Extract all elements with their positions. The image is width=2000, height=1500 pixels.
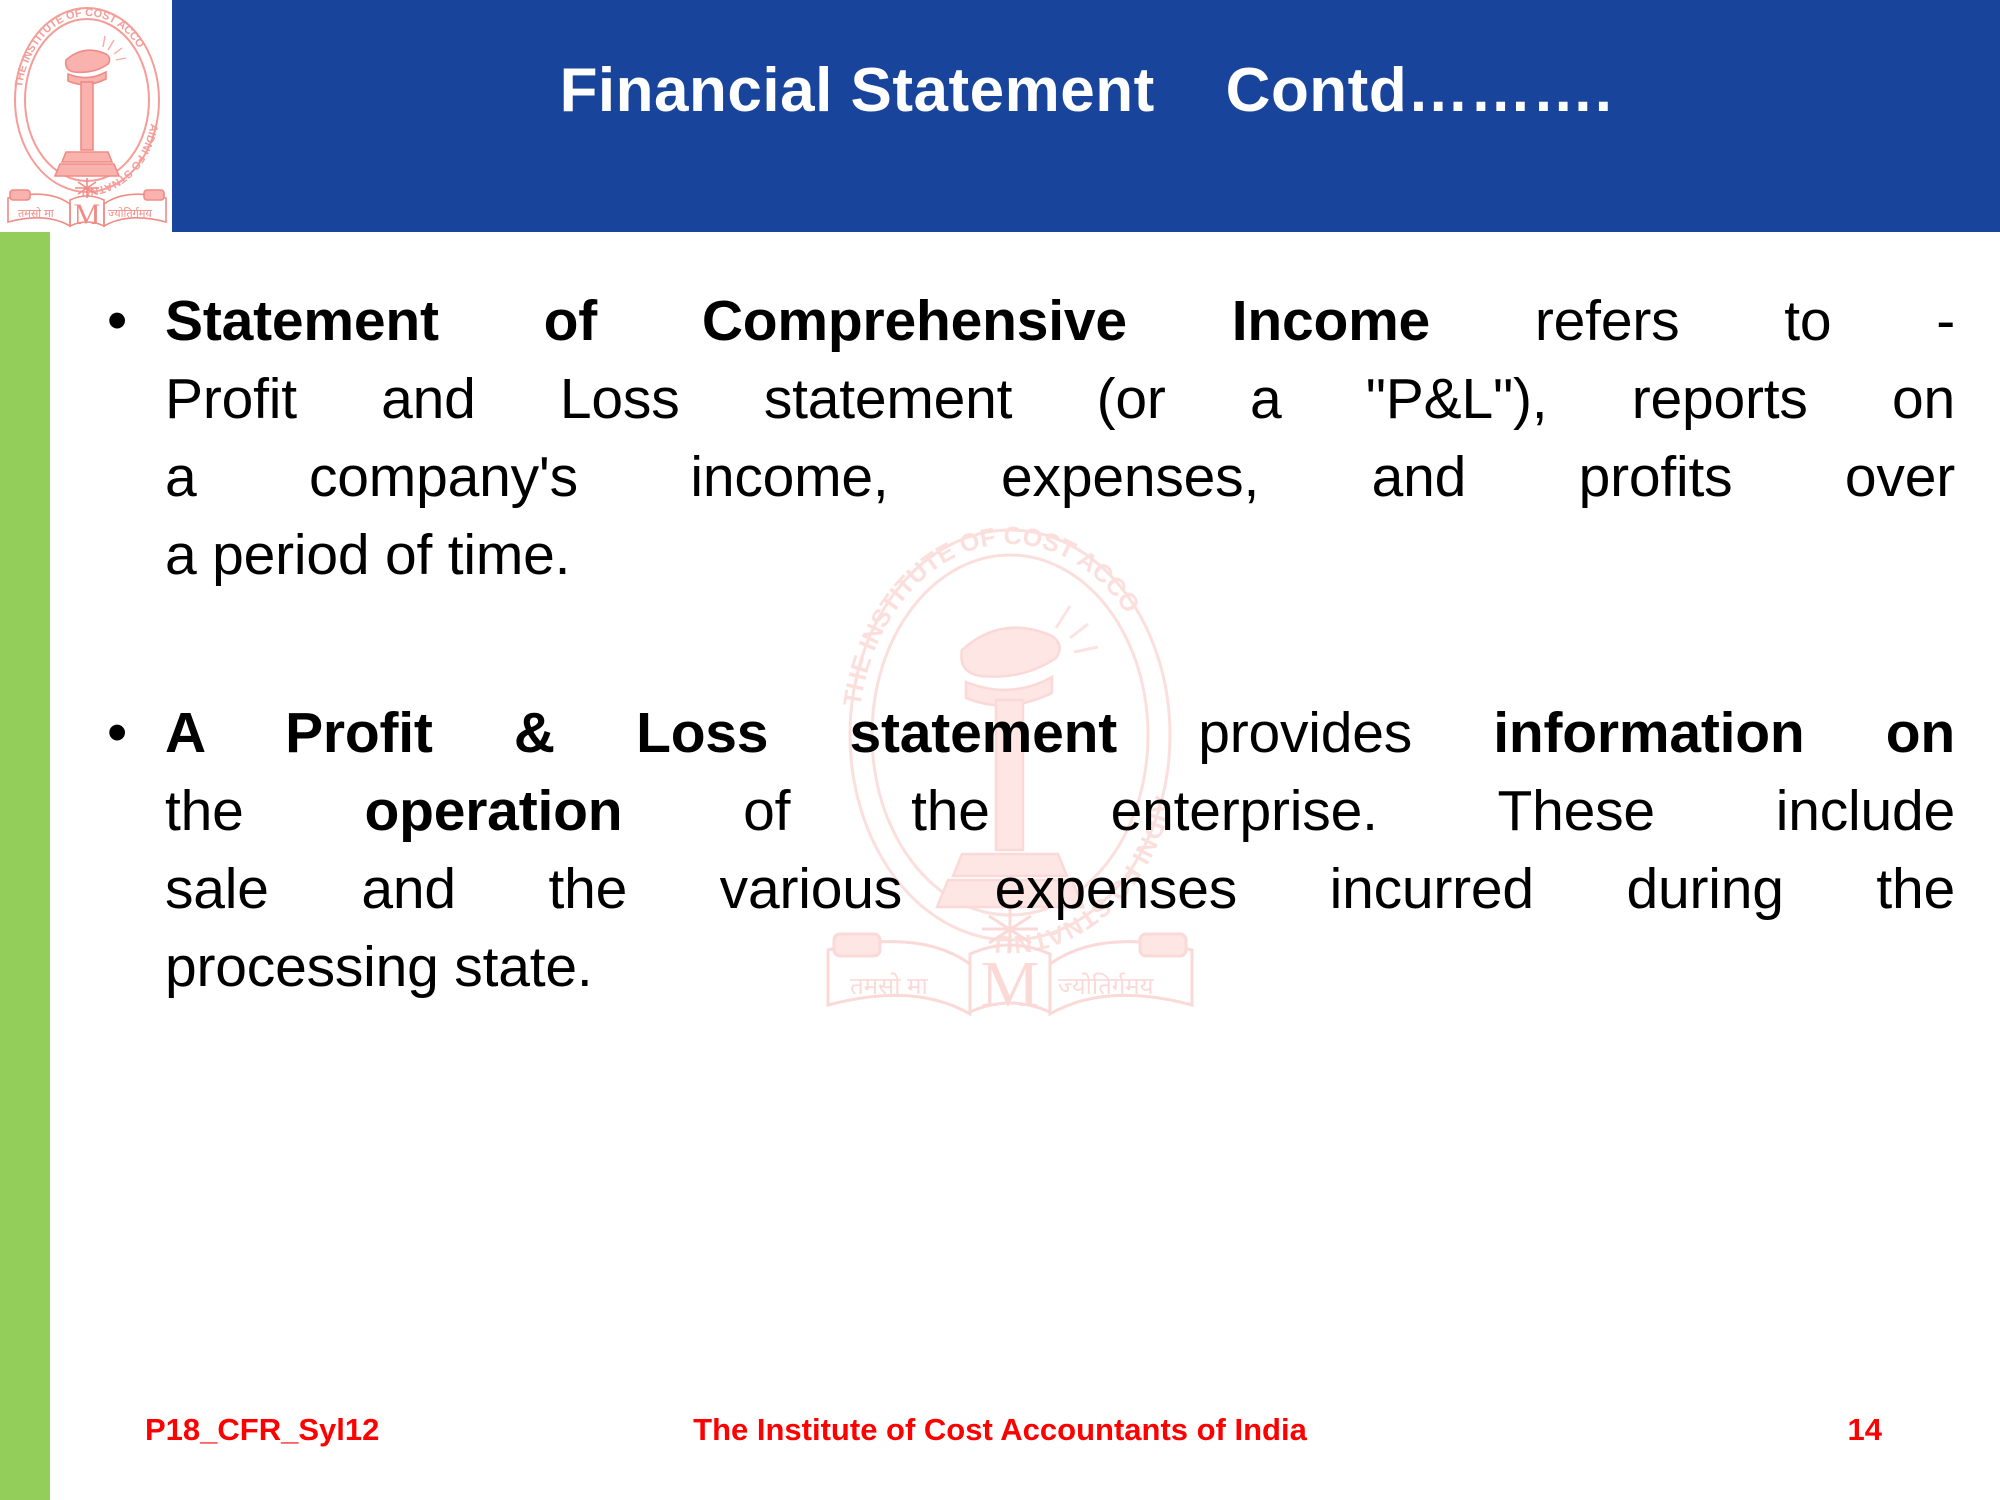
bullet2-line2-bold: operation <box>364 779 622 843</box>
list-item: • Statement of Comprehensive Income refe… <box>95 282 1955 594</box>
footer-page-number: 14 <box>1848 1412 1882 1448</box>
bullet-text-1: Statement of Comprehensive Income refers… <box>165 282 1955 594</box>
slide-root: Financial Statement Contd………. <box>0 0 2000 1500</box>
bullet-text-2: A Profit & Loss statement provides infor… <box>165 694 1955 1006</box>
bullet-marker: • <box>95 282 165 360</box>
bullet2-line3: sale and the various expenses incurred d… <box>165 857 1955 921</box>
bullet-marker: • <box>95 694 165 772</box>
svg-text:M: M <box>74 198 101 230</box>
bullet1-line4: a period of time. <box>165 523 570 587</box>
bullet1-line2: Profit and Loss statement (or a "P&L"), … <box>165 367 1955 431</box>
bullet2-line4: processing state. <box>165 935 593 999</box>
svg-text:ज्योतिर्गमय: ज्योतिर्गमय <box>108 207 152 220</box>
bullet2-line1-bold-a: A Profit & Loss statement <box>165 701 1117 765</box>
bullet2-line1-mid: provides <box>1117 701 1493 765</box>
footer: P18_CFR_Syl12 The Institute of Cost Acco… <box>0 1412 2000 1472</box>
bullet1-line1-bold: Statement of Comprehensive Income <box>165 289 1430 353</box>
page-title: Financial Statement Contd………. <box>172 0 2000 232</box>
bullet-spacer <box>95 594 1955 694</box>
institute-logo-icon: THE INSTITUTE OF COST ACCO AIDNI FO STNA… <box>4 2 170 230</box>
bullet1-line1-rest: refers to - <box>1430 289 1955 353</box>
list-item: • A Profit & Loss statement provides inf… <box>95 694 1955 1006</box>
footer-institute-name: The Institute of Cost Accountants of Ind… <box>0 1412 2000 1448</box>
svg-text:तमसो मा: तमसो मा <box>18 207 54 220</box>
slide-body: • Statement of Comprehensive Income refe… <box>95 282 1955 1006</box>
left-green-band <box>0 232 50 1500</box>
bullet2-line2-a: the <box>165 779 364 843</box>
bullet1-line3: a company's income, expenses, and profit… <box>165 445 1955 509</box>
bullet2-line2-b: of the enterprise. These include <box>622 779 1955 843</box>
svg-text:THE INSTITUTE OF COST ACCO: THE INSTITUTE OF COST ACCO <box>13 7 146 88</box>
bullet2-line1-bold-b: information on <box>1493 701 1955 765</box>
